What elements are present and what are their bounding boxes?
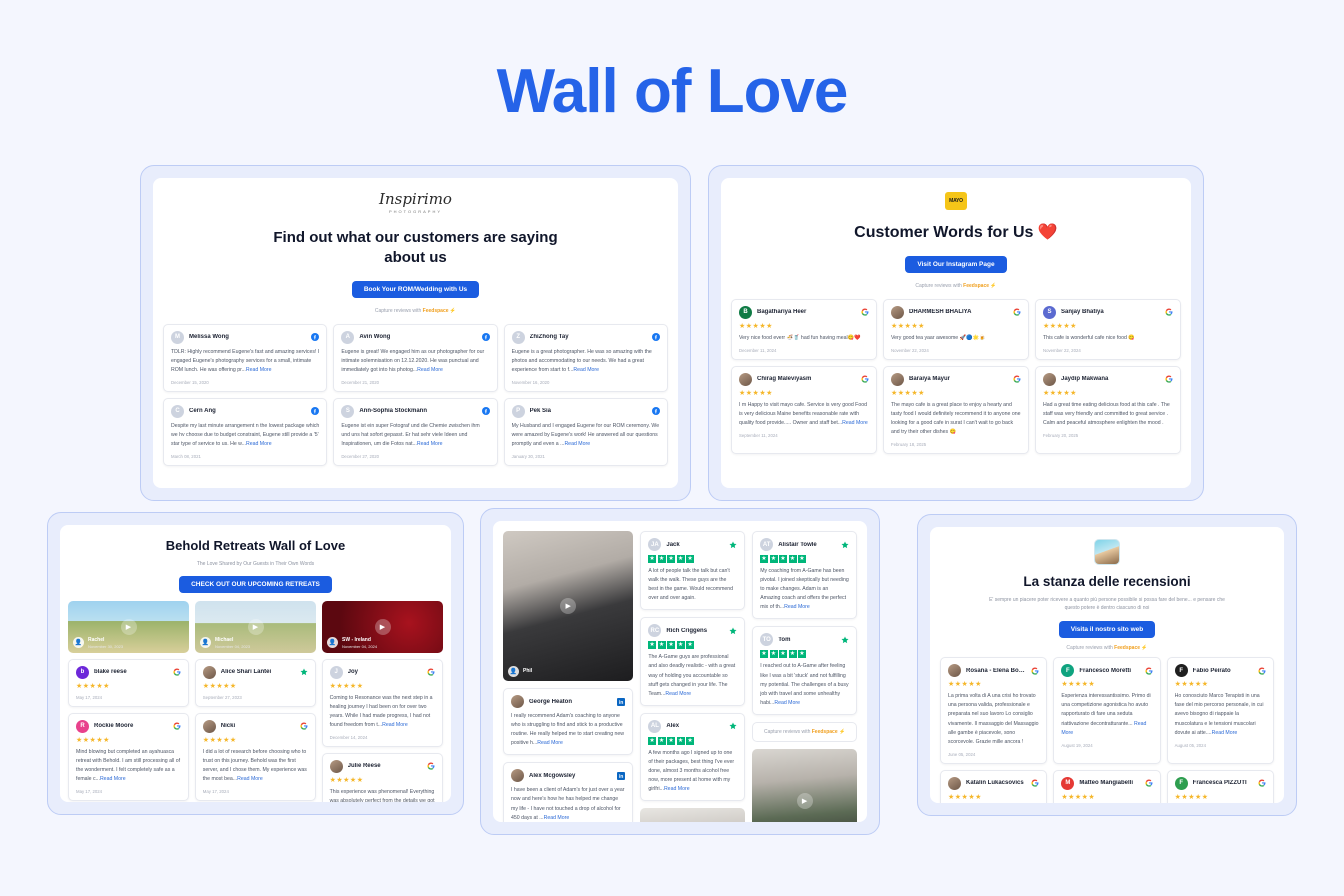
avatar: RC: [648, 624, 661, 637]
review-header: Alice Shari Lantei: [203, 666, 308, 679]
video-testimonial[interactable]: ▶👤: [752, 749, 857, 822]
review-card[interactable]: George HeatonI really recommend Adam's c…: [503, 688, 633, 755]
review-header: George Heaton: [511, 695, 625, 708]
rating-stars: [760, 650, 849, 658]
review-header: CCern Ang: [171, 405, 319, 418]
read-more-link[interactable]: Read More: [1061, 721, 1146, 736]
avatar: C: [171, 405, 184, 418]
review-card[interactable]: AAvin WongEugene is great! We engaged hi…: [333, 324, 497, 392]
star-icon: [677, 641, 685, 649]
review-text: Eugene ist ein super Fotograf und die Ch…: [341, 422, 489, 449]
read-more-link[interactable]: Read More: [544, 815, 570, 821]
rating-stars: [648, 555, 737, 563]
star-icon: [658, 555, 666, 563]
review-area: ▶👤PhilGeorge HeatonI really recommend Ad…: [493, 521, 867, 822]
star-icon: [770, 555, 778, 563]
review-date: August 19, 2024: [1061, 743, 1152, 748]
wall-panel: Inspirimo PHOTOGRAPHY Find out what our …: [153, 178, 678, 488]
google-icon: [1258, 667, 1266, 675]
rating-stars: ★★★★★: [891, 323, 1021, 330]
avatar: M: [1061, 777, 1074, 790]
trustpilot-icon: [729, 627, 737, 635]
avatar: S: [341, 405, 354, 418]
review-header: Chirag Maleviyasm: [739, 373, 869, 386]
star-icon: [648, 737, 656, 745]
reviewer-name: Rich Criggens: [666, 628, 724, 634]
google-icon: [1165, 308, 1173, 316]
review-header: PPek Sia: [512, 405, 660, 418]
review-card[interactable]: PPek SiaMy Husband and I engaged Eugene …: [504, 398, 668, 466]
feedspace-brand[interactable]: Feedspace: [812, 729, 838, 735]
read-more-link[interactable]: Read More: [665, 691, 691, 697]
reviewer-name: Sanjay Bhatiya: [1061, 309, 1160, 315]
capture-credit: Capture reviews with Feedspace ⚡: [163, 308, 668, 314]
review-text: Eugene is a great photographer. He was s…: [512, 348, 660, 375]
star-icon: [760, 650, 768, 658]
review-card[interactable]: ZZhiZhong TayEugene is a great photograp…: [504, 324, 668, 392]
review-date: February 18, 2025: [891, 442, 1021, 447]
review-card[interactable]: SAnn-Sophia StockmannEugene ist ein supe…: [333, 398, 497, 466]
review-text: Ho conosciuto Marco Terapisti in una fas…: [1175, 692, 1266, 737]
avatar: [511, 769, 524, 782]
review-card[interactable]: JJoy★★★★★Coming to Resonance was the nex…: [322, 659, 443, 747]
facebook-icon: [311, 407, 319, 415]
rating-stars: ★★★★★: [76, 683, 181, 690]
avatar: [948, 777, 961, 790]
review-header: Nicki: [203, 720, 308, 733]
review-header: JAJack: [648, 538, 737, 551]
video-author: Phil: [523, 668, 532, 675]
rating-stars: ★★★★★: [948, 794, 1039, 801]
avatar: [203, 720, 216, 733]
wall-title: Behold Retreats Wall of Love: [70, 537, 441, 555]
avatar: TO: [760, 633, 773, 646]
review-text: This experience was phenomenal! Everythi…: [330, 788, 435, 802]
rating-stars: ★★★★★: [1175, 681, 1266, 688]
star-icon: [667, 555, 675, 563]
review-grid: Rosana - Elena Bordolaro★★★★★La prima vo…: [930, 657, 1284, 803]
star-icon: [798, 555, 806, 563]
review-area: bblake reese★★★★★May 17, 2024Alice Shari…: [60, 653, 451, 802]
star-icon: [779, 555, 787, 563]
feedspace-brand[interactable]: Feedspace: [1114, 645, 1140, 651]
review-card[interactable]: Jaydip Makwana★★★★★Had a great time eati…: [1035, 366, 1181, 454]
reviewer-name: Julie Reese: [348, 763, 422, 769]
capture-label: Capture reviews with: [915, 283, 963, 289]
avatar: b: [76, 666, 89, 679]
reviewer-name: ZhiZhong Tay: [530, 334, 647, 340]
review-date: November 16, 2020: [512, 380, 660, 385]
wall-header: Behold Retreats Wall of Love The Love Sh…: [60, 525, 451, 601]
wall-card-behold: Behold Retreats Wall of Love The Love Sh…: [47, 512, 464, 815]
review-card[interactable]: SSanjay Bhatiya★★★★★This cafe is wonderf…: [1035, 299, 1181, 360]
wall-title: La stanza delle recensioni: [940, 573, 1274, 591]
avatar: [739, 373, 752, 386]
review-date: March 08, 2021: [171, 454, 319, 459]
avatar: F: [1175, 664, 1188, 677]
review-header: Katalin Lukacsovics: [948, 777, 1039, 790]
review-card[interactable]: Alex McgowsleyI have been a client of Ad…: [503, 762, 633, 822]
play-icon[interactable]: ▶: [797, 793, 813, 809]
review-header: ZZhiZhong Tay: [512, 331, 660, 344]
video-column: ▶👤PhilGeorge HeatonI really recommend Ad…: [503, 531, 633, 822]
read-more-link[interactable]: Read More: [842, 420, 868, 426]
review-date: February 20, 2025: [1043, 433, 1173, 438]
cta-button-instagram[interactable]: Visit Our Instagram Page: [905, 256, 1006, 273]
review-grid: BBagathariya Heer★★★★★Very nice food eve…: [721, 299, 1191, 464]
google-icon: [1013, 375, 1021, 383]
read-more-link[interactable]: Read More: [664, 786, 690, 792]
review-date: December 21, 2020: [341, 380, 489, 385]
star-icon: [779, 650, 787, 658]
reviewer-name: Alistair Towle: [778, 542, 836, 548]
wall-subtitle: E' sempre un piacere poter ricevere a qu…: [940, 596, 1274, 612]
star-icon: [648, 555, 656, 563]
review-header: Rosana - Elena Bordolaro: [948, 664, 1039, 677]
wall-panel: La stanza delle recensioni E' sempre un …: [930, 527, 1284, 803]
capture-credit: Capture reviews with Feedspace ⚡: [731, 283, 1181, 289]
avatar: AT: [760, 538, 773, 551]
review-date: January 30, 2021: [512, 454, 660, 459]
review-header: Alex Mcgowsley: [511, 769, 625, 782]
review-card[interactable]: Rosana - Elena Bordolaro★★★★★La prima vo…: [940, 657, 1047, 764]
avatar: 👤: [73, 637, 84, 648]
google-icon: [1145, 667, 1153, 675]
facebook-icon: [652, 407, 660, 415]
review-text: Mind blowing but completed an ayahuasca …: [76, 748, 181, 784]
capture-credit: Capture reviews with Feedspace ⚡: [752, 722, 857, 742]
review-text: This cafe is wonderful cafe nice food 😋: [1043, 334, 1173, 343]
review-card[interactable]: Baraiya Mayur★★★★★The mayo cafe is a gre…: [883, 366, 1029, 454]
rating-stars: ★★★★★: [1175, 794, 1266, 801]
review-date: May 17, 2024: [76, 789, 181, 794]
reviewer-name: Fabio Peirato: [1193, 668, 1253, 674]
review-card[interactable]: Katalin Lukacsovics★★★★★Si vede un cambi…: [940, 770, 1047, 803]
review-card[interactable]: BBagathariya Heer★★★★★Very nice food eve…: [731, 299, 877, 360]
reviewer-name: Baraiya Mayur: [909, 376, 1008, 382]
reviewer-name: Alice Shari Lantei: [221, 669, 295, 675]
review-card[interactable]: FFabio Peirato★★★★★Ho conosciuto Marco T…: [1167, 657, 1274, 764]
wall-title: Customer Words for Us ❤️: [806, 222, 1106, 244]
brand-logo: Inspirimo: [163, 192, 668, 207]
avatar: 👤: [508, 666, 519, 677]
review-date: May 17, 2024: [76, 695, 181, 700]
read-more-link[interactable]: Read More: [237, 776, 263, 782]
review-header: FFrancesco Moretti: [1061, 664, 1152, 677]
reviewer-name: Ann-Sophia Stockmann: [359, 408, 476, 414]
review-header: SSanjay Bhatiya: [1043, 306, 1173, 319]
review-header: Baraiya Mayur: [891, 373, 1021, 386]
review-header: Julie Reese: [330, 760, 435, 773]
read-more-link[interactable]: Read More: [1212, 730, 1238, 736]
review-text: Had a great time eating delicious food a…: [1043, 401, 1173, 428]
review-text: The mayo cafe is a great place to enjoy …: [891, 401, 1021, 437]
play-icon[interactable]: ▶: [560, 598, 576, 614]
review-card[interactable]: FFrancesca PIZZUTI★★★★★Ho iniziato per c…: [1167, 770, 1274, 803]
read-more-link[interactable]: Read More: [537, 740, 563, 746]
review-header: MMelissa Wong: [171, 331, 319, 344]
google-icon: [861, 375, 869, 383]
review-card[interactable]: DHARMESH BHALIYA★★★★★Very good tea yaar …: [883, 299, 1029, 360]
rating-stars: ★★★★★: [203, 683, 308, 690]
reviewer-name: Avin Wong: [359, 334, 476, 340]
google-icon: [427, 762, 435, 770]
rating-stars: ★★★★★: [1061, 794, 1152, 801]
video-date: November 30, 2023: [88, 644, 123, 649]
star-icon: [760, 555, 768, 563]
review-text: A few months ago I signed up to one of t…: [648, 749, 737, 794]
avatar: [511, 695, 524, 708]
wall-card-stanza: La stanza delle recensioni E' sempre un …: [917, 514, 1297, 816]
star-icon: [686, 555, 694, 563]
avatar: [891, 373, 904, 386]
review-date: May 17, 2024: [203, 789, 308, 794]
avatar: 👤: [200, 637, 211, 648]
reviewer-name: Nicki: [221, 723, 295, 729]
review-header: MMatteo Mangiabelli: [1061, 777, 1152, 790]
video-testimonial[interactable]: ▶👤Lucy Hare: [640, 808, 745, 822]
brand-logo-badge: MAYO: [945, 192, 967, 210]
linkedin-icon: [617, 772, 625, 780]
review-text: La prima volta di A una crisi ho trovato…: [948, 692, 1039, 747]
brand-logo-subtitle: PHOTOGRAPHY: [163, 209, 668, 214]
facebook-icon: [482, 333, 490, 341]
star-icon: [789, 650, 797, 658]
rating-stars: ★★★★★: [203, 737, 308, 744]
review-date: September 27, 2023: [203, 695, 308, 700]
review-card[interactable]: Chirag Maleviyasm★★★★★I m Happy to visit…: [731, 366, 877, 454]
review-card[interactable]: ATAlistair TowleMy coaching from A-Game …: [752, 531, 857, 619]
rating-stars: [648, 641, 737, 649]
review-text: The A-Game guys are professional and als…: [648, 653, 737, 698]
star-icon: [677, 555, 685, 563]
reviewer-name: blake reese: [94, 669, 168, 675]
rating-stars: [648, 737, 737, 745]
play-icon[interactable]: ▶: [375, 619, 391, 635]
rating-stars: ★★★★★: [76, 737, 181, 744]
video-testimonial[interactable]: ▶👤RachelNovember 30, 2023: [68, 601, 189, 653]
avatar: F: [1175, 777, 1188, 790]
reviewer-name: Chirag Maleviyasm: [757, 376, 856, 382]
avatar: P: [512, 405, 525, 418]
review-card[interactable]: bblake reese★★★★★May 17, 2024: [68, 659, 189, 707]
trustpilot-icon: [729, 722, 737, 730]
star-icon: [658, 737, 666, 745]
read-more-link[interactable]: Read More: [774, 700, 800, 706]
review-card[interactable]: Nicki★★★★★I did a lot of research before…: [195, 713, 316, 801]
read-more-link[interactable]: Read More: [246, 441, 272, 447]
google-icon: [427, 668, 435, 676]
avatar: [891, 306, 904, 319]
review-grid-left: bblake reese★★★★★May 17, 2024Alice Shari…: [68, 659, 316, 802]
review-header: ATAlistair Towle: [760, 538, 849, 551]
google-icon: [1031, 667, 1039, 675]
review-header: BBagathariya Heer: [739, 306, 869, 319]
avatar: 👤: [327, 637, 338, 648]
reviewer-name: Bagathariya Heer: [757, 309, 856, 315]
trustpilot-icon: [300, 668, 308, 676]
review-grid-right: JJoy★★★★★Coming to Resonance was the nex…: [322, 659, 443, 802]
review-text: I m Happy to visit mayo cafe. Service is…: [739, 401, 869, 428]
reviewer-name: Tom: [778, 637, 836, 643]
review-text: Very good tea yaar awesome 🚀🔵🌟🍺: [891, 334, 1021, 343]
facebook-icon: [311, 333, 319, 341]
review-text: Coming to Resonance was the next step in…: [330, 694, 435, 730]
avatar: J: [330, 666, 343, 679]
brand-logo-photo: [1094, 539, 1120, 565]
review-header: FFabio Peirato: [1175, 664, 1266, 677]
review-header: TOTom: [760, 633, 849, 646]
avatar: Z: [512, 331, 525, 344]
review-date: November 22, 2024: [1043, 348, 1173, 353]
star-icon: [648, 641, 656, 649]
review-text: I did a lot of research before choosing …: [203, 748, 308, 784]
feedspace-brand[interactable]: Feedspace: [423, 308, 449, 314]
google-icon: [173, 668, 181, 676]
video-label: 👤Phil: [508, 666, 532, 677]
reviewer-name: George Heaton: [529, 699, 612, 705]
reviewer-name: Katalin Lukacsovics: [966, 780, 1026, 786]
read-more-link[interactable]: Read More: [573, 367, 599, 373]
review-card[interactable]: TOTomI reached out to A-Game after feeli…: [752, 626, 857, 714]
review-card[interactable]: JAJackA lot of people talk the talk but …: [640, 531, 745, 610]
video-testimonial[interactable]: ▶👤MichaelNovember 04, 2023: [195, 601, 316, 653]
play-icon[interactable]: ▶: [121, 619, 137, 635]
capture-label: Capture reviews with: [1066, 645, 1114, 651]
reviewer-name: Alex Mcgowsley: [529, 773, 612, 779]
review-date: December 11, 2024: [739, 348, 869, 353]
reviewer-name: Jaydip Makwana: [1061, 376, 1160, 382]
rating-stars: ★★★★★: [330, 683, 435, 690]
google-icon: [1165, 375, 1173, 383]
linkedin-icon: [617, 698, 625, 706]
wall-header: La stanza delle recensioni E' sempre un …: [930, 527, 1284, 657]
star-icon: [686, 641, 694, 649]
rating-stars: ★★★★★: [948, 681, 1039, 688]
reviewer-name: Pek Sia: [530, 408, 647, 414]
star-icon: [770, 650, 778, 658]
wall-panel: Behold Retreats Wall of Love The Love Sh…: [60, 525, 451, 802]
reviewer-name: Francesco Moretti: [1079, 668, 1139, 674]
google-icon: [1031, 779, 1039, 787]
google-icon: [1258, 779, 1266, 787]
read-more-link[interactable]: Read More: [100, 776, 126, 782]
avatar: R: [76, 720, 89, 733]
feedspace-brand[interactable]: Feedspace: [963, 283, 989, 289]
trustpilot-icon: [729, 541, 737, 549]
avatar: F: [1061, 664, 1074, 677]
review-text: My Husband and I engaged Eugene for our …: [512, 422, 660, 449]
review-header: RCRich Criggens: [648, 624, 737, 637]
review-card[interactable]: MMelissa WongTDLR: Highly recommend Euge…: [163, 324, 327, 392]
trustpilot-icon: [841, 636, 849, 644]
google-icon: [1145, 779, 1153, 787]
review-card[interactable]: Julie Reese★★★★★This experience was phen…: [322, 753, 443, 802]
read-more-link[interactable]: Read More: [784, 604, 810, 610]
rating-stars: ★★★★★: [739, 390, 869, 397]
avatar: B: [739, 306, 752, 319]
avatar: [330, 760, 343, 773]
rating-stars: ★★★★★: [1061, 681, 1152, 688]
wall-card-agame: ▶👤PhilGeorge HeatonI really recommend Ad…: [480, 508, 880, 835]
review-card[interactable]: MMatteo Mangiabelli★★★★★Marco è fantasti…: [1053, 770, 1160, 803]
review-card[interactable]: Alice Shari Lantei★★★★★September 27, 202…: [195, 659, 316, 707]
review-card[interactable]: RRockie Moore★★★★★Mind blowing but compl…: [68, 713, 189, 801]
review-text: I have been a client of Adam's for just …: [511, 786, 625, 822]
review-card[interactable]: CCern AngDespite my last minute arrangem…: [163, 398, 327, 466]
cta-button-website[interactable]: Visita il nostro sito web: [1059, 621, 1155, 638]
reviewer-name: Joy: [348, 669, 422, 675]
video-date: November 04, 2023: [215, 644, 250, 649]
video-date: November 04, 2024: [342, 644, 377, 649]
capture-label: Capture reviews with: [375, 308, 423, 314]
star-icon: [677, 737, 685, 745]
facebook-icon: [482, 407, 490, 415]
wall-title: Find out what our customers are saying a…: [266, 228, 566, 269]
rating-stars: ★★★★★: [1043, 390, 1173, 397]
star-icon: [658, 641, 666, 649]
review-date: August 05, 2024: [1175, 743, 1266, 748]
review-header: SAnn-Sophia Stockmann: [341, 405, 489, 418]
rating-stars: [760, 555, 849, 563]
read-more-link[interactable]: Read More: [564, 441, 590, 447]
reviewer-name: Rosana - Elena Bordolaro: [966, 668, 1026, 674]
video-testimonial[interactable]: ▶👤Phil: [503, 531, 633, 681]
google-icon: [1013, 308, 1021, 316]
reviewer-name: Rockie Moore: [94, 723, 168, 729]
wall-card-mayo: MAYO Customer Words for Us ❤️ Visit Our …: [708, 165, 1204, 501]
avatar: S: [1043, 306, 1056, 319]
review-header: RRockie Moore: [76, 720, 181, 733]
capture-credit: Capture reviews with Feedspace ⚡: [940, 645, 1274, 651]
review-card[interactable]: ALAlexA few months ago I signed up to on…: [640, 713, 745, 801]
review-text: Despite my last minute arrangement n the…: [171, 422, 319, 449]
review-card[interactable]: FFrancesco Moretti★★★★★Esperienza intere…: [1053, 657, 1160, 764]
review-text: I reached out to A-Game after feeling li…: [760, 662, 849, 707]
read-more-link[interactable]: Read More: [417, 367, 443, 373]
read-more-link[interactable]: Read More: [417, 441, 443, 447]
review-date: December 14, 2024: [330, 735, 435, 740]
review-date: December 15, 2020: [171, 380, 319, 385]
review-column-left: JAJackA lot of people talk the talk but …: [640, 531, 745, 822]
video-label: 👤RachelNovember 30, 2023: [73, 637, 123, 649]
rating-stars: ★★★★★: [739, 323, 869, 330]
read-more-link[interactable]: Read More: [246, 367, 272, 373]
reviewer-name: Alex: [666, 723, 724, 729]
wall-panel: MAYO Customer Words for Us ❤️ Visit Our …: [721, 178, 1191, 488]
trustpilot-icon: [841, 541, 849, 549]
reviewer-name: Melissa Wong: [189, 334, 306, 340]
cta-button-retreats[interactable]: CHECK OUT OUR UPCOMING RETREATS: [179, 576, 332, 593]
avatar: [948, 664, 961, 677]
star-icon: [667, 737, 675, 745]
wall-panel: ▶👤PhilGeorge HeatonI really recommend Ad…: [493, 521, 867, 822]
review-header: AAvin Wong: [341, 331, 489, 344]
review-header: ALAlex: [648, 720, 737, 733]
google-icon: [861, 308, 869, 316]
play-icon[interactable]: ▶: [248, 619, 264, 635]
read-more-link[interactable]: Read More: [382, 722, 408, 728]
wall-header: Inspirimo PHOTOGRAPHY Find out what our …: [153, 178, 678, 324]
reviewer-name: Francesca PIZZUTI: [1193, 780, 1253, 786]
star-icon: [686, 737, 694, 745]
reviewer-name: Matteo Mangiabelli: [1079, 780, 1139, 786]
cta-button-book[interactable]: Book Your ROM/Wedding with Us: [352, 281, 479, 298]
avatar: JA: [648, 538, 661, 551]
video-row: ▶👤RachelNovember 30, 2023▶👤MichaelNovemb…: [60, 601, 451, 653]
video-testimonial[interactable]: ▶👤SW - IrelandNovember 04, 2024: [322, 601, 443, 653]
review-card[interactable]: RCRich CriggensThe A-Game guys are profe…: [640, 617, 745, 705]
